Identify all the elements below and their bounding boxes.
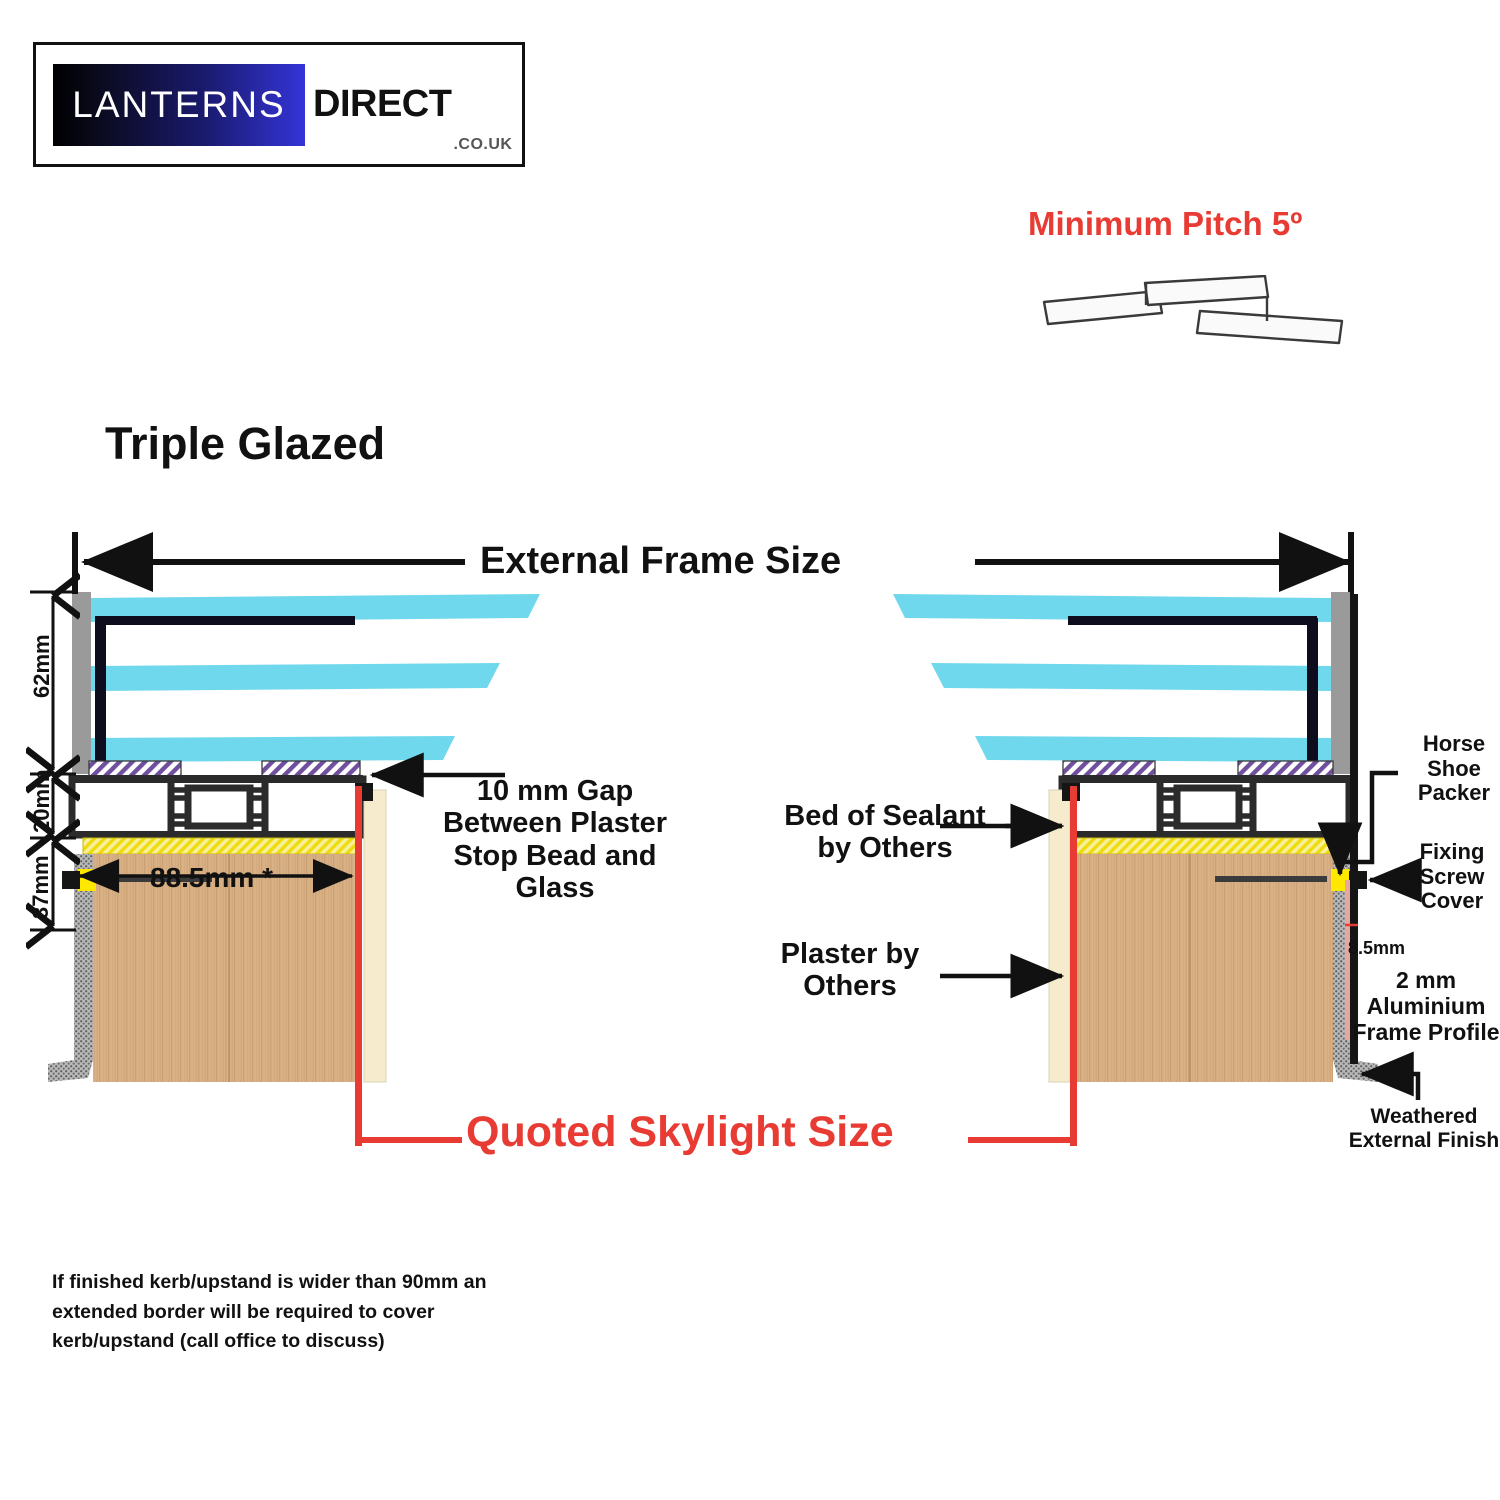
- frame-top-flange: [72, 775, 363, 783]
- quoted-skylight-line-left: [355, 786, 362, 1146]
- glass-spacer-bar-top-right: [1068, 616, 1317, 625]
- glass-spacer-bar-v2-right: [1307, 686, 1318, 764]
- annotation-bed-of-sealant: Bed of Sealant by Others: [770, 800, 1000, 865]
- plaster-by-others-right: [1049, 790, 1070, 1082]
- dimension-label-kerb-width: 88.5mm *: [150, 862, 273, 894]
- frame-bottom-flange-right: [1062, 831, 1351, 838]
- glass-pane-middle: [91, 663, 500, 691]
- bed-of-sealant-right: [1070, 838, 1348, 854]
- annotation-weathered-finish: Weathered External Finish: [1348, 1105, 1500, 1152]
- right-cross-section: [893, 592, 1378, 1146]
- dimension-label-kerb-height: 37mm: [28, 857, 54, 919]
- fixing-screw-cover-left: [62, 871, 80, 889]
- fixing-screw-right: [1215, 876, 1327, 882]
- frame-bottom-flange: [72, 831, 363, 838]
- dimension-label-frame-height: 20mm: [29, 773, 55, 833]
- frame-top-flange-right: [1062, 775, 1351, 783]
- plaster-by-others-left: [364, 790, 386, 1082]
- glass-pane-inner: [91, 736, 455, 762]
- annotation-horse-shoe-packer: Horse Shoe Packer: [1408, 732, 1500, 806]
- glass-pane-inner-right: [975, 736, 1331, 762]
- glass-spacer-grey: [72, 592, 91, 774]
- annotation-plaster: Plaster by Others: [760, 938, 940, 1003]
- annotation-gap: 10 mm Gap Between Plaster Stop Bead and …: [430, 775, 680, 905]
- aluminium-frame-profile: [72, 779, 363, 835]
- annotation-fixing-screw-cover: Fixing Screw Cover: [1404, 840, 1500, 914]
- dimension-label-glass-height: 62mm: [29, 638, 55, 698]
- horse-shoe-packer-left: [78, 869, 96, 891]
- glass-spacer-bar-v2: [95, 686, 106, 764]
- kerb-upstand-wood-right: [1075, 854, 1333, 1082]
- annotation-aluminium-profile: 2 mm Aluminium Frame Profile: [1352, 968, 1500, 1045]
- aluminium-frame-profile-right: [1062, 779, 1349, 835]
- quoted-skylight-size-title: Quoted Skylight Size: [466, 1108, 894, 1157]
- bed-of-sealant-left: [83, 838, 360, 854]
- glass-spacer-grey-right: [1331, 592, 1350, 774]
- glass-spacer-bar-top: [95, 616, 355, 625]
- frame-inner-line: [1345, 880, 1350, 1040]
- glass-pane-middle-right: [931, 663, 1331, 691]
- efs-extension-line-left: [72, 532, 78, 594]
- quoted-skylight-line-right: [1070, 786, 1077, 1146]
- dimension-label-frame-edge: 8.5mm: [1348, 938, 1405, 959]
- footnote-text: If finished kerb/upstand is wider than 9…: [52, 1268, 522, 1357]
- efs-extension-line-right: [1348, 532, 1354, 594]
